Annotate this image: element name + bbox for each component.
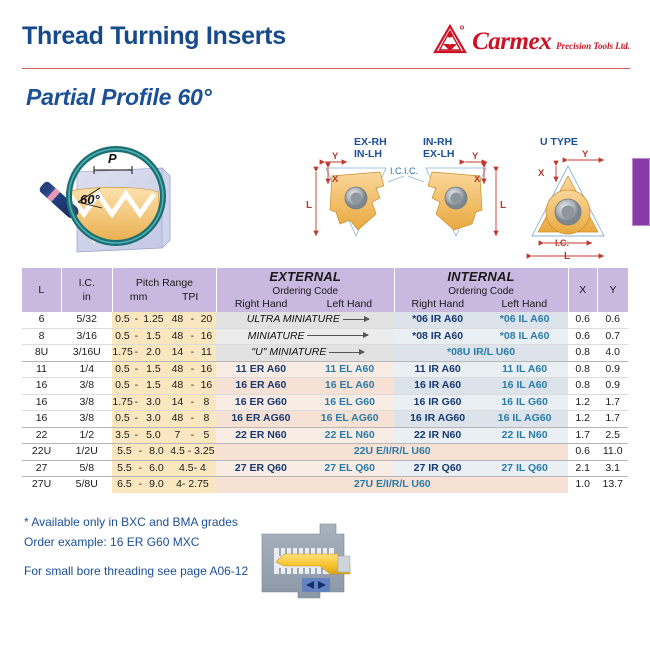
pitch-mm-to: 1.5 bbox=[140, 362, 166, 378]
external-left-code: 27 EL Q60 bbox=[324, 462, 375, 474]
pitch-tpi-dash: - bbox=[188, 362, 196, 378]
external-left-code: 16 EL A60 bbox=[325, 379, 375, 391]
pitch-tpi-range: 4- 2.75 bbox=[168, 477, 216, 493]
internal-left-code: 11 IL A60 bbox=[502, 363, 547, 375]
svg-text:L: L bbox=[500, 200, 506, 211]
svg-text:L: L bbox=[306, 200, 312, 211]
table-row[interactable]: 27U5/8U6.5-9.04- 2.7527U E/I/R/L U601.01… bbox=[22, 477, 628, 493]
external-left-code: 11 EL A60 bbox=[325, 363, 374, 375]
pitch-mm-to: 3.0 bbox=[140, 411, 166, 427]
insert-spec-table: L I.C. in Pitch Range mm TPI bbox=[22, 268, 628, 493]
pointer-arrow-icon bbox=[329, 352, 364, 353]
col-header-y: Y bbox=[597, 268, 628, 312]
pitch-tpi-to: 16 bbox=[196, 362, 216, 378]
col-header-internal-title: INTERNAL bbox=[447, 270, 514, 285]
pitch-tpi-from: 48 bbox=[166, 362, 188, 378]
external-right-code: 16 ER AG60 bbox=[231, 412, 290, 424]
pitch-tpi-from: 48 bbox=[166, 411, 188, 427]
pitch-tpi-dash: - bbox=[188, 378, 196, 394]
cell-external-right-hand[interactable]: 27 ER Q60 bbox=[216, 460, 305, 477]
cell-external-right-hand[interactable]: 11 ER A60 bbox=[216, 361, 305, 378]
section-subtitle: Partial Profile 60° bbox=[26, 84, 212, 111]
col-header-external: EXTERNAL Ordering Code Right Hand Left H… bbox=[216, 268, 394, 312]
cell-x: 0.6 bbox=[568, 328, 597, 345]
pitch-mm-dash: - bbox=[132, 395, 140, 411]
pitch-tpi-dash: - bbox=[188, 329, 196, 345]
svg-text:I.C.: I.C. bbox=[390, 166, 404, 176]
insert-geometry-diagram: EX-RH IN-LH L Y X I.C. IN-RH EX-LH bbox=[292, 132, 622, 264]
cell-pitch-range: 0.5-1.548-16 bbox=[112, 361, 216, 378]
external-right-code: 11 ER A60 bbox=[236, 363, 286, 375]
pitch-mm-dash: - bbox=[132, 411, 140, 427]
cell-internal-code-span[interactable]: *08U IR/L U60 bbox=[394, 345, 568, 362]
table-head: L I.C. in Pitch Range mm TPI bbox=[22, 268, 628, 312]
cell-internal-left-hand[interactable]: 22 IL N60 bbox=[481, 427, 568, 444]
cell-pitch-range: 1.75-2.014-11 bbox=[112, 345, 216, 362]
pitch-tpi-to: 5 bbox=[196, 428, 216, 444]
cell-y: 3.1 bbox=[597, 460, 628, 477]
cell-external-left-hand[interactable]: 27 EL Q60 bbox=[305, 460, 394, 477]
external-right-code: 22 ER N60 bbox=[235, 429, 286, 441]
cell-l: 8U bbox=[22, 345, 61, 362]
svg-text:X: X bbox=[474, 174, 481, 185]
cell-ic: 3/8 bbox=[61, 378, 112, 395]
pitch-mm-from: 6.5 bbox=[112, 477, 136, 493]
cell-x: 0.6 bbox=[568, 312, 597, 328]
col-header-external-title: EXTERNAL bbox=[269, 270, 341, 285]
cell-y: 0.9 bbox=[597, 378, 628, 395]
cell-external-description: MINIATURE bbox=[216, 328, 394, 345]
cell-external-right-hand[interactable]: 16 ER AG60 bbox=[216, 411, 305, 428]
cell-x: 1.2 bbox=[568, 394, 597, 411]
magnifier-angle-label: 60° bbox=[80, 192, 100, 207]
external-left-code: 16 EL AG60 bbox=[321, 412, 379, 424]
internal-right-code: *06 IR A60 bbox=[412, 313, 463, 325]
pitch-tpi-dash: - bbox=[188, 428, 196, 444]
pitch-mm-dash: - bbox=[132, 428, 140, 444]
pitch-tpi-dash: - bbox=[188, 345, 196, 361]
cell-ic: 1/2U bbox=[61, 444, 112, 461]
cell-external-right-hand[interactable]: 22 ER N60 bbox=[216, 427, 305, 444]
cell-pitch-range: 0.5-1.548-16 bbox=[112, 378, 216, 395]
svg-text:Y: Y bbox=[472, 151, 479, 162]
cell-x: 1.2 bbox=[568, 411, 597, 428]
pitch-tpi-to: 8 bbox=[196, 395, 216, 411]
cell-y: 11.0 bbox=[597, 444, 628, 461]
internal-right-code: 27 IR Q60 bbox=[414, 462, 462, 474]
ordering-code: 22U E/I/R/L U60 bbox=[354, 445, 431, 457]
pitch-tpi-from: 48 bbox=[166, 329, 188, 345]
cell-y: 2.5 bbox=[597, 427, 628, 444]
cell-ic: 5/8U bbox=[61, 477, 112, 493]
col-header-x: X bbox=[568, 268, 597, 312]
cell-ic: 5/8 bbox=[61, 460, 112, 477]
col-header-pitch-title: Pitch Range bbox=[136, 277, 193, 289]
internal-left-code: *06 IL A60 bbox=[500, 313, 550, 325]
pitch-mm-to: 3.0 bbox=[140, 395, 166, 411]
col-header-pitch-tpi: TPI bbox=[164, 291, 216, 303]
cell-external-right-hand[interactable]: 16 ER G60 bbox=[216, 394, 305, 411]
table-header-row: L I.C. in Pitch Range mm TPI bbox=[22, 268, 628, 312]
cell-external-left-hand[interactable]: 11 EL A60 bbox=[305, 361, 394, 378]
internal-right-code: 16 IR G60 bbox=[414, 396, 462, 408]
pitch-mm-to: 8.0 bbox=[144, 444, 168, 460]
cell-internal-left-hand[interactable]: *06 IL A60 bbox=[481, 312, 568, 328]
internal-left-code: 16 IL G60 bbox=[501, 396, 548, 408]
pitch-tpi-dash: - bbox=[188, 395, 196, 411]
pitch-mm-dash: - bbox=[136, 444, 144, 460]
pitch-tpi-from: 7 bbox=[166, 428, 188, 444]
cell-internal-right-hand[interactable]: 27 IR Q60 bbox=[394, 460, 481, 477]
page-root: Thread Turning Inserts Carmex Precision … bbox=[0, 0, 650, 650]
pointer-arrow-icon bbox=[307, 335, 367, 336]
internal-left-code: 27 IL Q60 bbox=[501, 462, 548, 474]
pitch-mm-to: 1.5 bbox=[140, 378, 166, 394]
cell-internal-left-hand[interactable]: 16 IL G60 bbox=[481, 394, 568, 411]
cell-internal-left-hand[interactable]: 11 IL A60 bbox=[481, 361, 568, 378]
pitch-tpi-from: 48 bbox=[166, 378, 188, 394]
cell-ordering-code-span[interactable]: 27U E/I/R/L U60 bbox=[216, 477, 568, 493]
col-header-pitch-range: Pitch Range mm TPI bbox=[112, 268, 216, 312]
col-header-internal-sub: Ordering Code bbox=[448, 286, 514, 298]
cell-l: 16 bbox=[22, 378, 61, 395]
cell-ic: 1/4 bbox=[61, 361, 112, 378]
brand-logo: Carmex Precision Tools Ltd. bbox=[433, 24, 630, 54]
pitch-mm-from: 1.75 bbox=[112, 395, 132, 411]
external-description: "U" MINIATURE bbox=[251, 346, 326, 358]
col-header-internal: INTERNAL Ordering Code Right Hand Left H… bbox=[394, 268, 568, 312]
cell-l: 27 bbox=[22, 460, 61, 477]
internal-left-code: 16 IL A60 bbox=[502, 379, 548, 391]
pitch-mm-from: 0.5 bbox=[112, 312, 132, 328]
pitch-mm-to: 1.25 bbox=[140, 312, 166, 328]
cell-pitch-range: 0.5-1.2548-20 bbox=[112, 312, 216, 328]
pitch-tpi-dash: - bbox=[188, 312, 196, 328]
pitch-mm-to: 2.0 bbox=[140, 345, 166, 361]
cell-y: 0.7 bbox=[597, 328, 628, 345]
pitch-mm-dash: - bbox=[132, 329, 140, 345]
pitch-tpi-range: 4.5- 4 bbox=[168, 461, 216, 477]
cell-external-left-hand[interactable]: 16 EL A60 bbox=[305, 378, 394, 395]
cell-external-description: ULTRA MINIATURE bbox=[216, 312, 394, 328]
footer-notes: * Available only in BXC and BMA grades O… bbox=[24, 512, 264, 581]
svg-text:X: X bbox=[332, 174, 339, 185]
table-row[interactable]: 65/320.5-1.2548-20ULTRA MINIATURE *06 IR… bbox=[22, 312, 628, 328]
col-header-ic-line2: in bbox=[83, 291, 91, 303]
svg-text:I.C.: I.C. bbox=[404, 166, 418, 176]
pitch-mm-dash: - bbox=[132, 378, 140, 394]
pitch-tpi-dash: - bbox=[188, 411, 196, 427]
pitch-mm-from: 5.5 bbox=[112, 461, 136, 477]
pitch-tpi-to: 16 bbox=[196, 378, 216, 394]
cell-pitch-range: 0.5-3.048-8 bbox=[112, 411, 216, 428]
cell-x: 1.7 bbox=[568, 427, 597, 444]
svg-text:IN-LH: IN-LH bbox=[354, 148, 382, 160]
cell-internal-right-hand[interactable]: 22 IR N60 bbox=[394, 427, 481, 444]
external-description: MINIATURE bbox=[248, 330, 305, 342]
cell-external-left-hand[interactable]: 16 EL G60 bbox=[305, 394, 394, 411]
cell-l: 8 bbox=[22, 328, 61, 345]
cell-internal-right-hand[interactable]: 16 IR AG60 bbox=[394, 411, 481, 428]
table-row[interactable]: 275/85.5-6.04.5- 427 ER Q6027 EL Q6027 I… bbox=[22, 460, 628, 477]
internal-ordering-code: *08U IR/L U60 bbox=[447, 346, 515, 358]
cell-internal-left-hand[interactable]: 16 IL AG60 bbox=[481, 411, 568, 428]
internal-left-code: 16 IL AG60 bbox=[498, 412, 552, 424]
pointer-arrow-icon bbox=[343, 319, 369, 320]
table-row[interactable]: 163/80.5-1.548-1616 ER A6016 EL A6016 IR… bbox=[22, 378, 628, 395]
cell-y: 0.6 bbox=[597, 312, 628, 328]
cell-l: 22 bbox=[22, 427, 61, 444]
cell-x: 0.8 bbox=[568, 378, 597, 395]
page-title: Thread Turning Inserts bbox=[22, 22, 286, 51]
table-row[interactable]: 111/40.5-1.548-1611 ER A6011 EL A6011 IR… bbox=[22, 361, 628, 378]
pitch-mm-to: 5.0 bbox=[140, 428, 166, 444]
pitch-tpi-from: 14 bbox=[166, 395, 188, 411]
pitch-mm-from: 0.5 bbox=[112, 411, 132, 427]
cell-internal-right-hand[interactable]: 16 IR A60 bbox=[394, 378, 481, 395]
svg-text:Y: Y bbox=[332, 151, 339, 162]
cell-pitch-range: 0.5-1.548-16 bbox=[112, 328, 216, 345]
cell-pitch-range: 3.5-5.07-5 bbox=[112, 427, 216, 444]
cell-internal-left-hand[interactable]: 27 IL Q60 bbox=[481, 460, 568, 477]
diagram-view-ex-rh: EX-RH IN-LH L Y X I.C. bbox=[306, 136, 404, 236]
col-header-ic-line1: I.C. bbox=[79, 277, 95, 289]
external-right-code: 16 ER G60 bbox=[235, 396, 287, 408]
svg-text:I.C.: I.C. bbox=[555, 238, 569, 248]
cell-y: 4.0 bbox=[597, 345, 628, 362]
cell-l: 16 bbox=[22, 394, 61, 411]
cell-internal-left-hand[interactable]: *08 IL A60 bbox=[481, 328, 568, 345]
pitch-tpi-to: 11 bbox=[196, 345, 216, 361]
cell-ic: 3/8 bbox=[61, 394, 112, 411]
cell-x: 2.1 bbox=[568, 460, 597, 477]
internal-right-code: 22 IR N60 bbox=[414, 429, 461, 441]
external-right-code: 27 ER Q60 bbox=[235, 462, 287, 474]
pitch-mm-dash: - bbox=[136, 477, 144, 493]
cell-internal-right-hand[interactable]: 11 IR A60 bbox=[394, 361, 481, 378]
cell-x: 0.6 bbox=[568, 444, 597, 461]
col-header-ic: I.C. in bbox=[61, 268, 112, 312]
col-header-l: L bbox=[22, 268, 61, 312]
cell-x: 0.8 bbox=[568, 345, 597, 362]
cell-pitch-range: 6.5-9.04- 2.75 bbox=[112, 477, 216, 493]
cell-internal-right-hand[interactable]: 16 IR G60 bbox=[394, 394, 481, 411]
pitch-mm-from: 5.5 bbox=[112, 444, 136, 460]
pitch-tpi-to: 16 bbox=[196, 329, 216, 345]
cell-y: 1.7 bbox=[597, 394, 628, 411]
brand-subtitle: Precision Tools Ltd. bbox=[556, 42, 630, 54]
pitch-mm-dash: - bbox=[132, 345, 140, 361]
cell-l: 22U bbox=[22, 444, 61, 461]
pitch-mm-dash: - bbox=[136, 461, 144, 477]
cell-pitch-range: 1.75-3.014-8 bbox=[112, 394, 216, 411]
table-row[interactable]: 163/80.5-3.048-816 ER AG6016 EL AG6016 I… bbox=[22, 411, 628, 428]
magnifier-pitch-label: P bbox=[108, 151, 117, 166]
header-divider bbox=[22, 68, 630, 69]
cell-l: 11 bbox=[22, 361, 61, 378]
cell-ordering-code-span[interactable]: 22U E/I/R/L U60 bbox=[216, 444, 568, 461]
page-header: Thread Turning Inserts Carmex Precision … bbox=[22, 22, 630, 70]
col-header-pitch-mm: mm bbox=[113, 291, 165, 303]
external-left-code: 16 EL G60 bbox=[324, 396, 375, 408]
internal-right-code: 16 IR A60 bbox=[414, 379, 461, 391]
brand-name: Carmex bbox=[472, 29, 551, 54]
svg-text:EX-LH: EX-LH bbox=[423, 148, 455, 160]
pitch-mm-dash: - bbox=[132, 312, 140, 328]
pitch-tpi-from: 14 bbox=[166, 345, 188, 361]
svg-text:L: L bbox=[564, 251, 570, 262]
pitch-mm-from: 0.5 bbox=[112, 378, 132, 394]
note-grades: * Available only in BXC and BMA grades bbox=[24, 512, 264, 532]
pitch-tpi-from: 48 bbox=[166, 312, 188, 328]
cell-y: 1.7 bbox=[597, 411, 628, 428]
cell-internal-left-hand[interactable]: 16 IL A60 bbox=[481, 378, 568, 395]
cell-internal-right-hand[interactable]: *06 IR A60 bbox=[394, 312, 481, 328]
col-header-external-left-hand: Left Hand bbox=[305, 298, 393, 310]
cell-ic: 1/2 bbox=[61, 427, 112, 444]
cell-external-left-hand[interactable]: 22 EL N60 bbox=[305, 427, 394, 444]
cell-l: 16 bbox=[22, 411, 61, 428]
col-header-internal-left-hand: Left Hand bbox=[481, 298, 568, 310]
table-row[interactable]: 83/160.5-1.548-16MINIATURE *08 IR A60*08… bbox=[22, 328, 628, 345]
svg-text:Y: Y bbox=[582, 149, 589, 160]
cell-l: 6 bbox=[22, 312, 61, 328]
cell-pitch-range: 5.5-6.04.5- 4 bbox=[112, 460, 216, 477]
internal-left-code: 22 IL N60 bbox=[502, 429, 548, 441]
pitch-tpi-range: 4.5 - 3.25 bbox=[168, 444, 216, 460]
magnifier-thread-illustration: P 60° bbox=[22, 136, 207, 264]
cell-ic: 3/16 bbox=[61, 328, 112, 345]
svg-text:EX-RH: EX-RH bbox=[354, 136, 387, 148]
ordering-code: 27U E/I/R/L U60 bbox=[354, 478, 431, 490]
carmex-triangle-icon bbox=[433, 24, 467, 54]
svg-text:U TYPE: U TYPE bbox=[540, 136, 578, 148]
external-description: ULTRA MINIATURE bbox=[247, 313, 340, 325]
internal-right-code: 16 IR AG60 bbox=[410, 412, 465, 424]
pitch-mm-from: 3.5 bbox=[112, 428, 132, 444]
boring-bar-illustration bbox=[258, 512, 376, 608]
svg-text:X: X bbox=[538, 168, 545, 179]
pitch-tpi-to: 20 bbox=[196, 312, 216, 328]
cell-ic: 3/16U bbox=[61, 345, 112, 362]
cell-external-left-hand[interactable]: 16 EL AG60 bbox=[305, 411, 394, 428]
cell-l: 27U bbox=[22, 477, 61, 493]
cell-internal-right-hand[interactable]: *08 IR A60 bbox=[394, 328, 481, 345]
note-small-bore[interactable]: For small bore threading see page A06-12 bbox=[24, 561, 264, 581]
col-header-internal-right-hand: Right Hand bbox=[395, 298, 482, 310]
diagram-view-u-type: U TYPE Y X I.C. L bbox=[532, 136, 604, 262]
pitch-mm-from: 0.5 bbox=[112, 329, 132, 345]
cell-y: 0.9 bbox=[597, 361, 628, 378]
cell-external-right-hand[interactable]: 16 ER A60 bbox=[216, 378, 305, 395]
internal-left-code: *08 IL A60 bbox=[500, 330, 550, 342]
cell-x: 1.0 bbox=[568, 477, 597, 493]
internal-right-code: *08 IR A60 bbox=[412, 330, 463, 342]
table-row[interactable]: 22U1/2U5.5-8.04.5 - 3.2522U E/I/R/L U600… bbox=[22, 444, 628, 461]
cell-ic: 3/8 bbox=[61, 411, 112, 428]
external-left-code: 22 EL N60 bbox=[325, 429, 375, 441]
table-body: 65/320.5-1.2548-20ULTRA MINIATURE *06 IR… bbox=[22, 312, 628, 493]
cell-x: 0.8 bbox=[568, 361, 597, 378]
pitch-mm-from: 0.5 bbox=[112, 362, 132, 378]
table-row[interactable]: 163/81.75-3.014-816 ER G6016 EL G6016 IR… bbox=[22, 394, 628, 411]
pitch-mm-to: 6.0 bbox=[144, 461, 168, 477]
pitch-mm-to: 1.5 bbox=[140, 329, 166, 345]
section-tab[interactable] bbox=[632, 158, 650, 226]
pitch-tpi-to: 8 bbox=[196, 411, 216, 427]
cell-y: 13.7 bbox=[597, 477, 628, 493]
pitch-mm-from: 1.75 bbox=[112, 345, 132, 361]
note-order-example: Order example: 16 ER G60 MXC bbox=[24, 532, 264, 552]
cell-ic: 5/32 bbox=[61, 312, 112, 328]
internal-right-code: 11 IR A60 bbox=[414, 363, 460, 375]
col-header-external-sub: Ordering Code bbox=[272, 286, 338, 298]
cell-external-description: "U" MINIATURE bbox=[216, 345, 394, 362]
table-row[interactable]: 8U3/16U1.75-2.014-11"U" MINIATURE *08U I… bbox=[22, 345, 628, 362]
diagram-view-in-rh: IN-RH EX-LH L Y X I.C. bbox=[404, 136, 506, 236]
pitch-mm-to: 9.0 bbox=[144, 477, 168, 493]
svg-text:IN-RH: IN-RH bbox=[423, 136, 452, 148]
pitch-mm-dash: - bbox=[132, 362, 140, 378]
table-row[interactable]: 221/23.5-5.07-522 ER N6022 EL N6022 IR N… bbox=[22, 427, 628, 444]
external-right-code: 16 ER A60 bbox=[235, 379, 286, 391]
col-header-external-right-hand: Right Hand bbox=[217, 298, 305, 310]
cell-pitch-range: 5.5-8.04.5 - 3.25 bbox=[112, 444, 216, 461]
